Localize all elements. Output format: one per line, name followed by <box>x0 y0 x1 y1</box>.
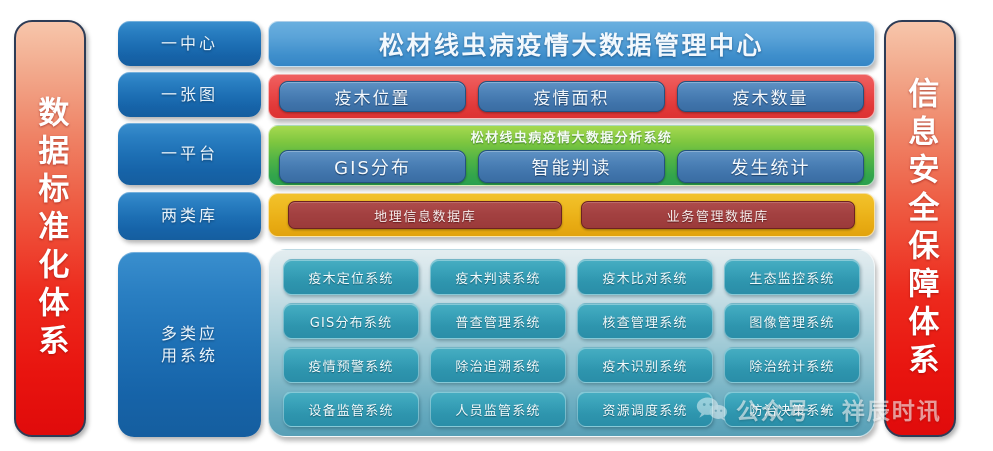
app-button-ecological-monitoring-label: 生态监控系统 <box>749 268 834 287</box>
app-button-treatment-statistics[interactable]: 除治统计系统 <box>724 347 860 383</box>
main-title-band: 松材线虫病疫情大数据管理中心 <box>268 21 875 67</box>
app-button-treatment-statistics-label: 除治统计系统 <box>749 356 834 375</box>
app-button-tree-positioning-label: 疫木定位系统 <box>308 268 393 287</box>
app-button-control-decision[interactable]: 防治决策系统 <box>724 391 860 427</box>
metric-button-epidemic-area-label: 疫情面积 <box>534 84 610 109</box>
sidebar-item-one-platform[interactable]: 一平台 <box>118 123 261 185</box>
infographic-canvas: 数据标准化体系 一中心 一张图 一平台 两类库 多类应用系统 松材线虫病疫情大数… <box>0 0 993 451</box>
sidebar-item-one-platform-label: 一平台 <box>161 143 218 165</box>
green-band-button-row: GIS分布 智能判读 发生统计 <box>279 150 864 183</box>
sidebar-item-two-databases-label: 两类库 <box>161 205 218 227</box>
sidebar-item-multi-applications[interactable]: 多类应用系统 <box>118 252 261 437</box>
sidebar-item-one-map-label: 一张图 <box>161 84 218 106</box>
sidebar-item-two-databases[interactable]: 两类库 <box>118 192 261 240</box>
app-button-tree-comparison-label: 疫木比对系统 <box>602 268 687 287</box>
app-button-epidemic-warning-label: 疫情预警系统 <box>308 356 393 375</box>
sidebar-item-one-center-label: 一中心 <box>161 33 218 55</box>
app-button-resource-scheduling-label: 资源调度系统 <box>602 400 687 419</box>
green-band-title: 松材线虫病疫情大数据分析系统 <box>279 129 864 148</box>
app-button-tree-interpretation[interactable]: 疫木判读系统 <box>430 259 566 295</box>
right-pillar-label: 信息安全保障体系 <box>904 77 937 381</box>
app-button-personnel-supervision-label: 人员监管系统 <box>455 400 540 419</box>
analysis-button-occurrence-statistics[interactable]: 发生统计 <box>677 150 864 183</box>
page-title: 松材线虫病疫情大数据管理中心 <box>379 26 764 62</box>
app-button-tree-recognition-label: 疫木识别系统 <box>602 356 687 375</box>
app-button-resource-scheduling[interactable]: 资源调度系统 <box>577 391 713 427</box>
app-button-personnel-supervision[interactable]: 人员监管系统 <box>430 391 566 427</box>
app-button-census-management-label: 普查管理系统 <box>455 312 540 331</box>
analysis-button-occurrence-statistics-label: 发生统计 <box>731 154 811 180</box>
yellow-database-band: 地理信息数据库 业务管理数据库 <box>268 193 875 237</box>
sidebar-item-one-center[interactable]: 一中心 <box>118 21 261 66</box>
database-button-business-management[interactable]: 业务管理数据库 <box>581 201 855 229</box>
metric-button-tree-count[interactable]: 疫木数量 <box>677 81 864 112</box>
analysis-button-gis-distribution[interactable]: GIS分布 <box>279 150 466 183</box>
app-button-image-management-label: 图像管理系统 <box>749 312 834 331</box>
app-button-treatment-tracing-label: 除治追溯系统 <box>455 356 540 375</box>
app-button-census-management[interactable]: 普查管理系统 <box>430 303 566 339</box>
app-button-tree-comparison[interactable]: 疫木比对系统 <box>577 259 713 295</box>
metric-button-epidemic-area[interactable]: 疫情面积 <box>478 81 665 112</box>
app-button-equipment-supervision[interactable]: 设备监管系统 <box>283 391 419 427</box>
app-button-verification-management-label: 核查管理系统 <box>602 312 687 331</box>
metric-button-tree-location[interactable]: 疫木位置 <box>279 81 466 112</box>
app-button-tree-recognition[interactable]: 疫木识别系统 <box>577 347 713 383</box>
analysis-button-smart-interpretation-label: 智能判读 <box>532 154 612 180</box>
analysis-button-smart-interpretation[interactable]: 智能判读 <box>478 150 665 183</box>
app-button-gis-distribution[interactable]: GIS分布系统 <box>283 303 419 339</box>
app-button-equipment-supervision-label: 设备监管系统 <box>308 400 393 419</box>
metric-button-tree-location-label: 疫木位置 <box>335 84 411 109</box>
app-button-tree-positioning[interactable]: 疫木定位系统 <box>283 259 419 295</box>
app-button-image-management[interactable]: 图像管理系统 <box>724 303 860 339</box>
app-button-ecological-monitoring[interactable]: 生态监控系统 <box>724 259 860 295</box>
applications-panel: 疫木定位系统 疫木判读系统 疫木比对系统 生态监控系统 GIS分布系统 普查管理… <box>268 249 875 437</box>
analysis-button-gis-distribution-label: GIS分布 <box>334 154 411 180</box>
database-button-geographic-info[interactable]: 地理信息数据库 <box>288 201 562 229</box>
left-pillar-data-standardization: 数据标准化体系 <box>14 20 86 437</box>
metric-button-tree-count-label: 疫木数量 <box>733 84 809 109</box>
app-button-tree-interpretation-label: 疫木判读系统 <box>455 268 540 287</box>
database-button-geographic-info-label: 地理信息数据库 <box>374 206 476 225</box>
green-analysis-band: 松材线虫病疫情大数据分析系统 GIS分布 智能判读 发生统计 <box>268 125 875 186</box>
app-button-gis-distribution-label: GIS分布系统 <box>310 312 393 331</box>
app-button-verification-management[interactable]: 核查管理系统 <box>577 303 713 339</box>
applications-grid: 疫木定位系统 疫木判读系统 疫木比对系统 生态监控系统 GIS分布系统 普查管理… <box>283 259 860 427</box>
sidebar-item-one-map[interactable]: 一张图 <box>118 72 261 117</box>
database-button-business-management-label: 业务管理数据库 <box>667 206 769 225</box>
left-pillar-label: 数据标准化体系 <box>34 96 67 362</box>
sidebar-item-multi-applications-label: 多类应用系统 <box>161 323 218 366</box>
app-button-treatment-tracing[interactable]: 除治追溯系统 <box>430 347 566 383</box>
right-pillar-information-security: 信息安全保障体系 <box>884 20 956 437</box>
app-button-epidemic-warning[interactable]: 疫情预警系统 <box>283 347 419 383</box>
red-metrics-band: 疫木位置 疫情面积 疫木数量 <box>268 74 875 119</box>
app-button-control-decision-label: 防治决策系统 <box>749 400 834 419</box>
